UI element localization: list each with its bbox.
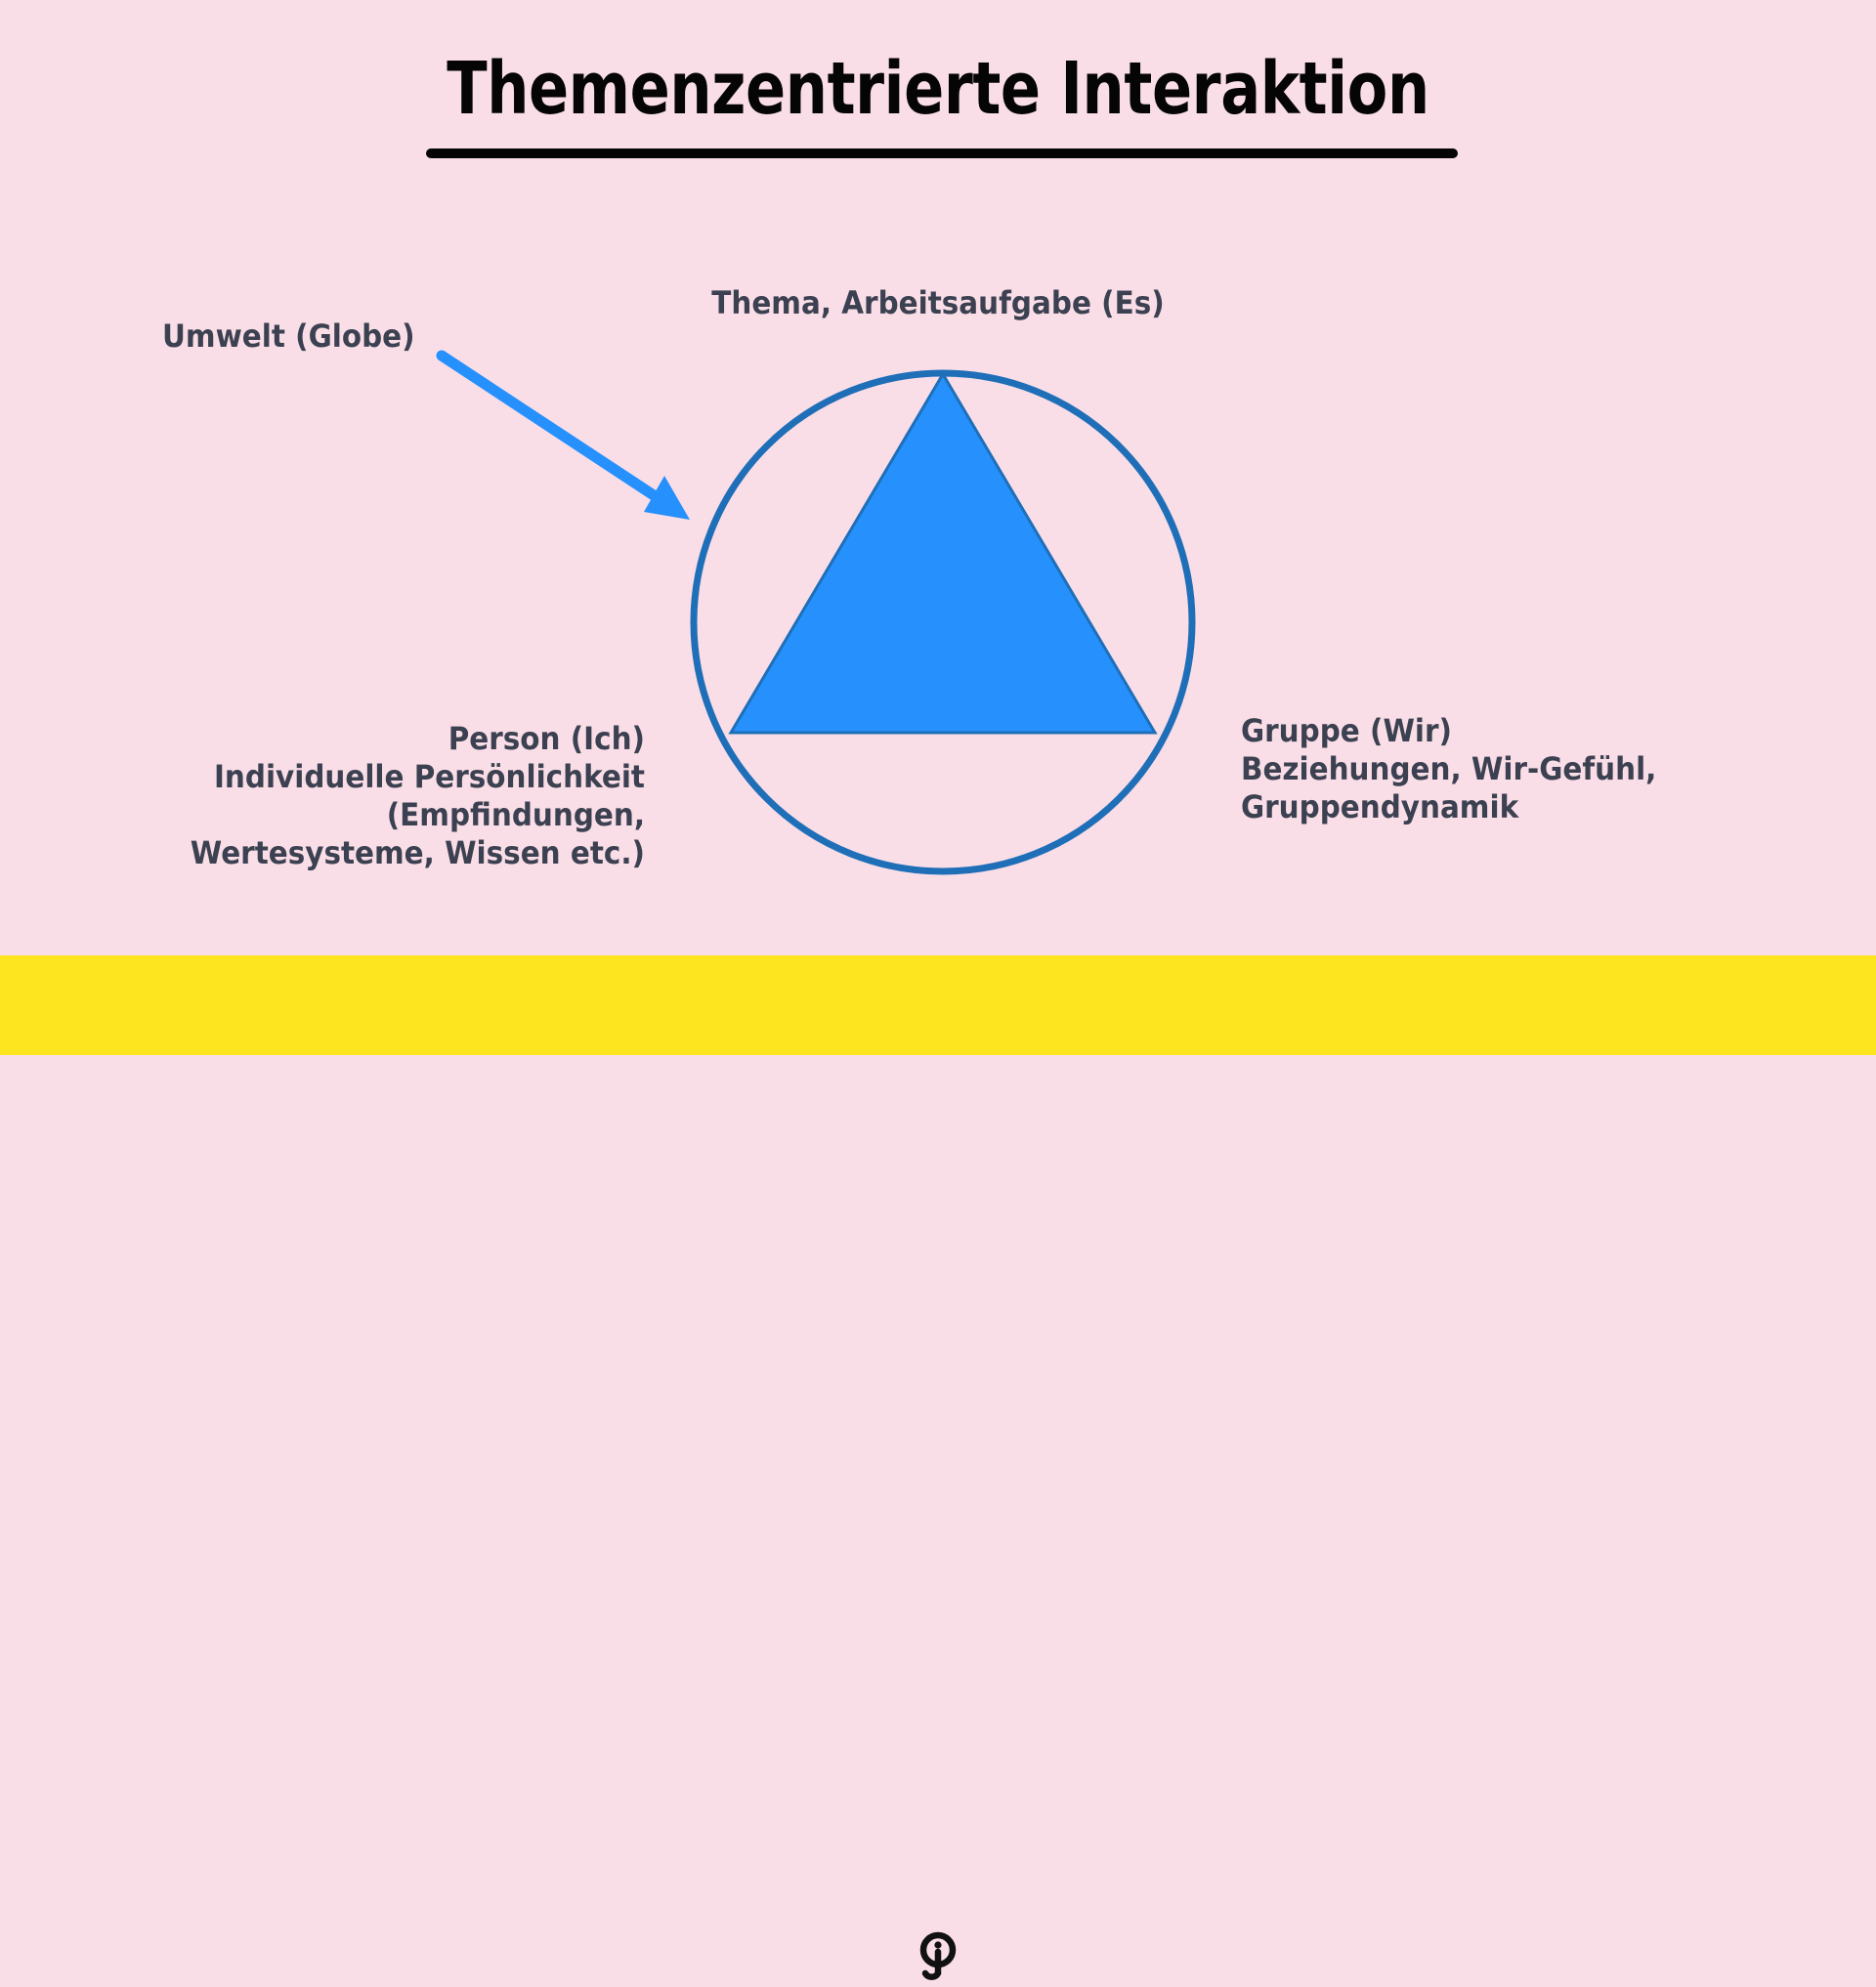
- lightbulb-icon: [917, 1930, 959, 1987]
- title-underline-rule: [426, 148, 1458, 158]
- label-gruppe-wir: Gruppe (Wir) Beziehungen, Wir-Gefühl, Gr…: [1241, 712, 1727, 826]
- label-person-ich: Person (Ich) Individuelle Persönlichkeit…: [159, 720, 645, 872]
- label-thema-es: Thema, Arbeitsaufgabe (Es): [704, 284, 1172, 322]
- arrow-head-icon: [644, 476, 690, 520]
- globe-circle: [694, 373, 1192, 871]
- tzi-triangle: [731, 374, 1155, 733]
- label-umwelt-globe: Umwelt (Globe): [162, 317, 415, 356]
- slide-canvas: Themenzentrierte Interaktion Umwelt (Glo…: [0, 0, 1876, 1055]
- footer-bar: [0, 955, 1876, 1055]
- page-title-text: Themenzentrierte Interaktion: [169, 49, 1707, 129]
- umwelt-pointer-arrow: [442, 356, 690, 520]
- tzi-diagram: [0, 0, 1876, 1055]
- page-title: Themenzentrierte Interaktion: [0, 49, 1876, 129]
